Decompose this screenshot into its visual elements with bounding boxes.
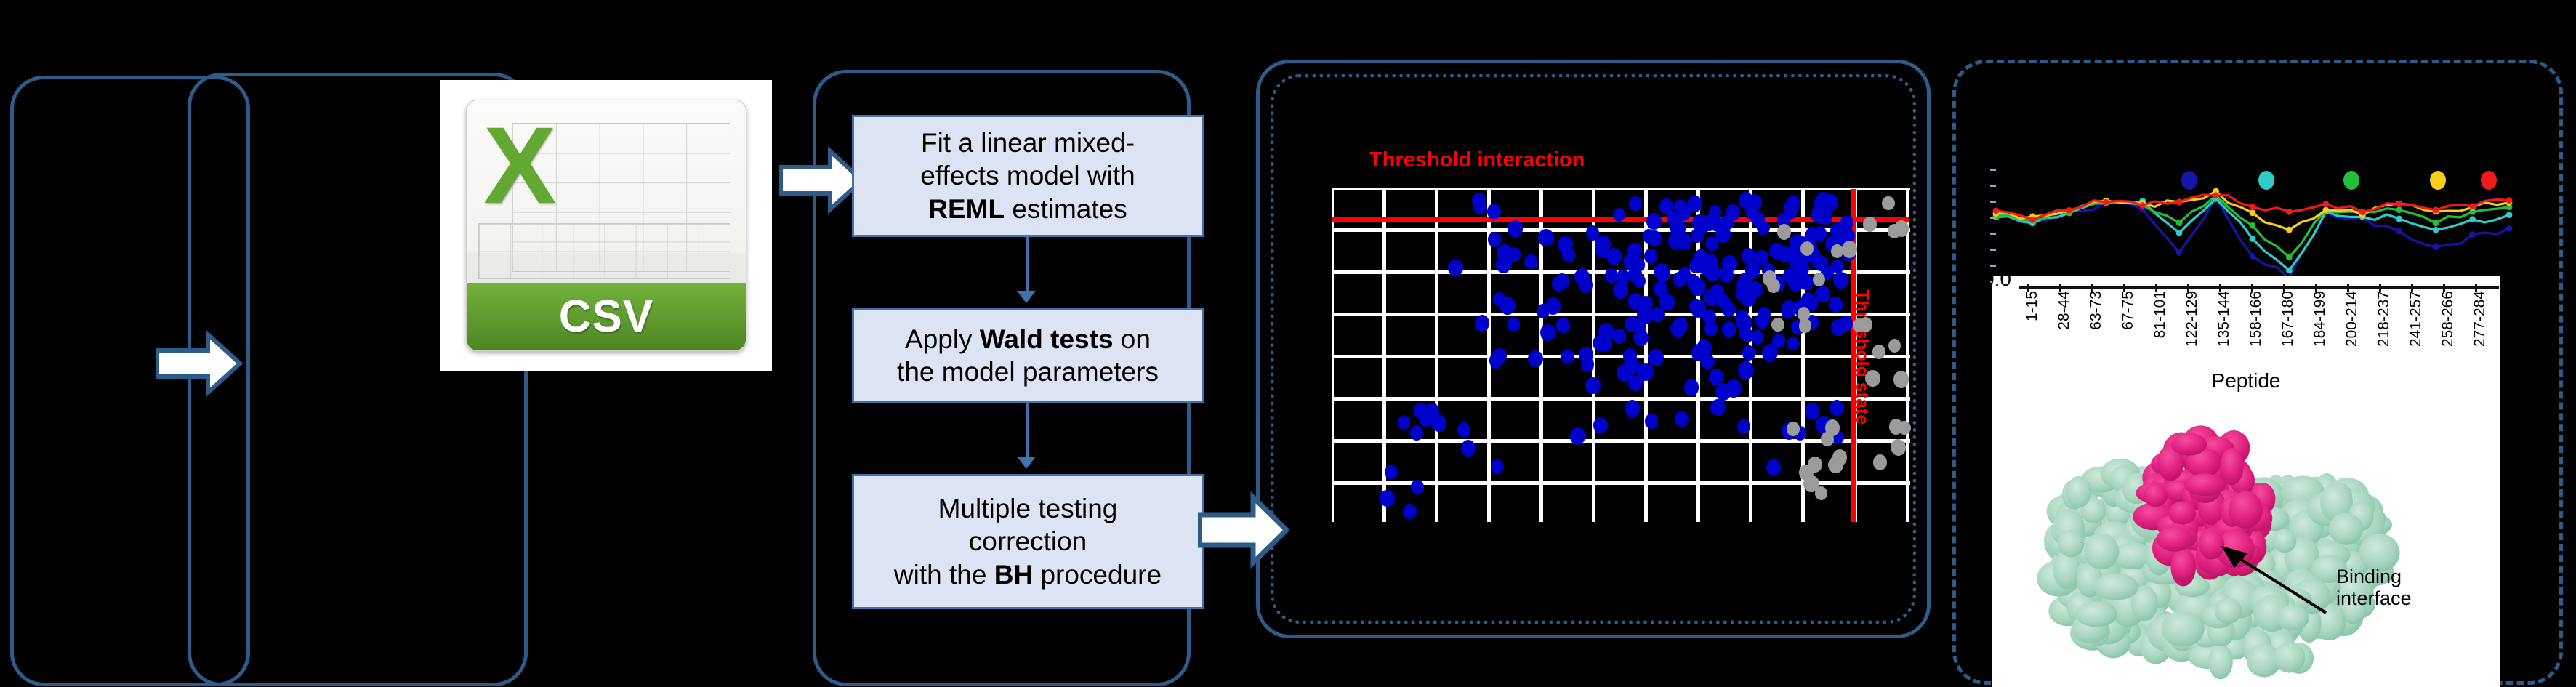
volcano-point-significant bbox=[1487, 204, 1502, 220]
volcano-point-significant bbox=[1675, 411, 1689, 427]
volcano-point-significant bbox=[1380, 490, 1395, 507]
volcano-point-non-significant bbox=[1771, 318, 1784, 332]
volcano-point-significant bbox=[1715, 383, 1731, 401]
peptide-tick-label: 167-180 bbox=[2279, 291, 2297, 347]
ligand-surface-blob bbox=[2171, 550, 2195, 582]
volcano-point-significant bbox=[1722, 321, 1736, 337]
volcano-point-significant bbox=[1537, 304, 1550, 318]
connector-reml-to-wald-head bbox=[1017, 291, 1036, 303]
peptide-series-marker bbox=[2286, 267, 2293, 273]
peptide-tick-label: 1-15 bbox=[2024, 291, 2041, 321]
peptide-series-marker bbox=[2359, 209, 2366, 215]
volcano-point-significant bbox=[1667, 212, 1679, 226]
step-wald-pre: Apply bbox=[905, 324, 980, 354]
volcano-point-significant bbox=[1643, 229, 1655, 243]
volcano-point-non-significant bbox=[1787, 422, 1800, 436]
legend-dot-3 bbox=[2343, 171, 2359, 190]
volcano-point-significant bbox=[1829, 297, 1843, 312]
volcano-point-significant bbox=[1787, 337, 1799, 350]
volcano-point-non-significant bbox=[1865, 370, 1880, 387]
volcano-plot: Threshold interaction Threshold state bbox=[1298, 137, 1906, 573]
protein-surface-blob bbox=[2093, 574, 2138, 600]
volcano-point-significant bbox=[1528, 350, 1543, 367]
peptide-series-marker bbox=[2103, 199, 2109, 206]
volcano-point-significant bbox=[1579, 277, 1593, 292]
volcano-point-significant bbox=[1556, 318, 1569, 333]
peptide-tick-mark bbox=[2219, 284, 2221, 292]
step-reml-line3-rest: estimates bbox=[1005, 194, 1127, 224]
volcano-point-significant bbox=[1710, 399, 1726, 416]
peptide-series-marker bbox=[2029, 217, 2036, 223]
peptide-tick-label: 135-144 bbox=[2215, 291, 2233, 347]
volcano-point-significant bbox=[1492, 348, 1506, 364]
volcano-point-significant bbox=[1500, 297, 1516, 315]
volcano-point-significant bbox=[1561, 349, 1574, 364]
volcano-point-significant bbox=[1722, 302, 1736, 317]
volcano-point-significant bbox=[1816, 192, 1831, 209]
volcano-point-significant bbox=[1624, 357, 1640, 374]
legend-dot-2 bbox=[2258, 171, 2274, 190]
volcano-point-significant bbox=[1709, 369, 1723, 385]
volcano-point-significant bbox=[1687, 275, 1701, 290]
volcano-point-non-significant bbox=[1828, 457, 1843, 474]
csv-tile: X CSV bbox=[466, 100, 746, 351]
protein-surface-blob bbox=[2058, 530, 2085, 557]
ligand-surface-blob bbox=[2157, 526, 2193, 551]
step-bh-line1: Multiple testing bbox=[938, 494, 1118, 523]
volcano-point-significant bbox=[1613, 281, 1628, 299]
peptide-tick-label: 258-266 bbox=[2439, 291, 2457, 347]
peptide-tick-mark bbox=[2475, 284, 2477, 292]
volcano-point-significant bbox=[1692, 214, 1707, 231]
volcano-point-significant bbox=[1491, 459, 1504, 474]
volcano-point-significant bbox=[1762, 344, 1778, 361]
connector-wald-to-bh bbox=[1026, 403, 1029, 461]
connector-wald-to-bh-head bbox=[1017, 457, 1036, 469]
peptide-tick-label: 184-199 bbox=[2311, 291, 2329, 347]
peptide-tick-mark bbox=[2027, 284, 2029, 292]
protein-surface-blob bbox=[2215, 598, 2242, 624]
legend-dot-5 bbox=[2481, 171, 2497, 190]
protein-surface-blob bbox=[2066, 476, 2091, 507]
step-reml-box[interactable]: Fit a linear mixed- effects model with R… bbox=[852, 115, 1204, 237]
volcano-point-significant bbox=[1496, 256, 1512, 273]
peptide-series-marker bbox=[2396, 228, 2402, 235]
peptide-series-marker bbox=[2139, 202, 2146, 209]
step-bh-line2: correction bbox=[969, 526, 1087, 556]
volcano-point-significant bbox=[1555, 273, 1569, 289]
peptide-series-marker bbox=[2396, 201, 2402, 207]
volcano-point-significant bbox=[1628, 375, 1643, 391]
volcano-point-non-significant bbox=[1859, 317, 1872, 332]
peptide-series-marker bbox=[2396, 216, 2402, 222]
volcano-point-significant bbox=[1475, 315, 1489, 332]
volcano-point-non-significant bbox=[1863, 217, 1877, 232]
volcano-point-non-significant bbox=[1888, 339, 1901, 353]
volcano-point-significant bbox=[1751, 330, 1763, 345]
volcano-point-significant bbox=[1613, 208, 1625, 222]
volcano-point-significant bbox=[1570, 427, 1585, 445]
protein-surface-blob bbox=[2329, 513, 2363, 545]
peptide-tick-label: 81-101 bbox=[2152, 291, 2169, 338]
ligand-surface-blob bbox=[2221, 448, 2244, 485]
peptide-series-marker bbox=[2250, 253, 2256, 260]
peptide-tick-mark bbox=[2443, 284, 2445, 292]
volcano-point-significant bbox=[1689, 299, 1704, 315]
volcano-point-significant bbox=[1411, 480, 1423, 494]
volcano-point-significant bbox=[1704, 264, 1720, 281]
volcano-point-significant bbox=[1805, 403, 1819, 419]
volcano-point-non-significant bbox=[1872, 345, 1885, 359]
volcano-point-significant bbox=[1694, 249, 1708, 266]
volcano-point-significant bbox=[1558, 236, 1573, 253]
peptide-series-marker bbox=[2506, 197, 2513, 204]
step-wald-box[interactable]: Apply Wald tests on the model parameters bbox=[852, 308, 1204, 403]
volcano-point-significant bbox=[1398, 415, 1410, 429]
peptide-series-marker bbox=[2323, 207, 2330, 214]
volcano-point-significant bbox=[1766, 459, 1781, 476]
peptide-tick-mark bbox=[2411, 284, 2413, 292]
step-reml-line2: effects model with bbox=[920, 161, 1135, 190]
peptide-series-marker bbox=[2250, 222, 2256, 229]
peptide-tick-mark bbox=[2283, 284, 2285, 292]
volcano-point-non-significant bbox=[1873, 454, 1887, 470]
volcano-point-significant bbox=[1625, 400, 1640, 417]
csv-file-icon: X CSV bbox=[440, 80, 772, 371]
peptide-series-marker bbox=[2286, 227, 2293, 233]
volcano-point-significant bbox=[1840, 215, 1853, 229]
volcano-point-non-significant bbox=[1893, 371, 1909, 388]
volcano-point-significant bbox=[1540, 324, 1555, 342]
peptide-tick-label: 67-75 bbox=[2120, 291, 2137, 330]
volcano-point-non-significant bbox=[1813, 273, 1825, 286]
peptide-tick-label: 241-257 bbox=[2407, 291, 2425, 347]
peptide-series-marker bbox=[2433, 227, 2439, 233]
step-reml-line1: Fit a linear mixed- bbox=[921, 128, 1135, 158]
step-bh-box[interactable]: Multiple testing correction with the BH … bbox=[852, 474, 1204, 609]
peptide-series-marker bbox=[2213, 192, 2219, 198]
volcano-point-significant bbox=[1818, 208, 1832, 224]
arrow-input-to-csv bbox=[156, 329, 243, 398]
legend-dot-1 bbox=[2181, 171, 2197, 190]
step-bh-post: procedure bbox=[1033, 560, 1162, 590]
structure-inset-card: 0.0 1-1528-4463-7367-7581-101122-129135-… bbox=[1992, 276, 2500, 687]
volcano-point-significant bbox=[1646, 213, 1662, 230]
peptide-tick-label: 200-214 bbox=[2343, 291, 2361, 347]
volcano-point-significant bbox=[1585, 377, 1601, 395]
volcano-point-significant bbox=[1701, 354, 1715, 370]
csv-format-label: CSV bbox=[467, 283, 745, 350]
volcano-point-significant bbox=[1659, 294, 1675, 310]
volcano-point-significant bbox=[1461, 440, 1476, 457]
protein-structure-image bbox=[2013, 403, 2420, 680]
ligand-surface-blob bbox=[2169, 501, 2197, 524]
volcano-point-significant bbox=[1508, 317, 1520, 331]
volcano-point-significant bbox=[1655, 265, 1670, 282]
binding-interface-line2: interface bbox=[2336, 587, 2412, 609]
peptide-series-marker bbox=[2286, 209, 2293, 215]
excel-x-icon: X bbox=[472, 105, 567, 225]
volcano-point-significant bbox=[1629, 196, 1642, 211]
volcano-point-significant bbox=[1457, 422, 1470, 437]
peptide-series-marker bbox=[2323, 201, 2330, 207]
peptide-series-marker bbox=[2250, 236, 2256, 242]
volcano-point-significant bbox=[1736, 310, 1749, 324]
peptide-tick-mark bbox=[2123, 284, 2125, 292]
volcano-point-significant bbox=[1684, 379, 1699, 395]
peptide-series-marker bbox=[2176, 198, 2183, 205]
peptide-tick-mark bbox=[2091, 284, 2093, 292]
arrow-model-to-volcano bbox=[1198, 490, 1289, 570]
protein-surface-blob bbox=[2277, 605, 2309, 630]
volcano-point-significant bbox=[1410, 425, 1423, 440]
volcano-point-significant bbox=[1473, 199, 1487, 214]
volcano-point-non-significant bbox=[1898, 421, 1910, 435]
volcano-point-significant bbox=[1742, 345, 1755, 361]
volcano-point-significant bbox=[1403, 504, 1417, 519]
volcano-point-significant bbox=[1742, 248, 1756, 264]
peptide-series-marker bbox=[2433, 207, 2439, 214]
volcano-point-significant bbox=[1644, 249, 1657, 264]
step-reml-text: Fit a linear mixed- effects model with R… bbox=[920, 126, 1135, 225]
volcano-point-non-significant bbox=[1825, 419, 1840, 436]
peptide-tick-mark bbox=[2379, 284, 2381, 292]
peptide-series-marker bbox=[1993, 208, 2000, 214]
step-wald-term: Wald tests bbox=[980, 324, 1114, 354]
volcano-point-significant bbox=[1738, 361, 1754, 379]
volcano-point-significant bbox=[1737, 419, 1750, 435]
peptide-series-marker bbox=[2506, 212, 2513, 218]
volcano-point-significant bbox=[1784, 205, 1797, 220]
volcano-point-significant bbox=[1833, 272, 1848, 289]
step-wald-post: on bbox=[1114, 324, 1151, 354]
peptide-tick-label: 218-237 bbox=[2375, 291, 2393, 347]
volcano-point-non-significant bbox=[1777, 224, 1791, 240]
spreadsheet-grid-lower-icon bbox=[478, 223, 730, 280]
step-bh-term: BH bbox=[994, 560, 1033, 590]
connector-reml-to-wald bbox=[1026, 237, 1029, 295]
volcano-point-significant bbox=[1633, 257, 1645, 271]
volcano-point-significant bbox=[1758, 307, 1771, 321]
peptide-series-marker bbox=[2396, 206, 2402, 213]
volcano-point-significant bbox=[1538, 229, 1553, 246]
volcano-point-significant bbox=[1709, 205, 1721, 219]
volcano-point-significant bbox=[1720, 267, 1734, 283]
volcano-point-significant bbox=[1385, 465, 1397, 479]
peptide-tick-label: 63-73 bbox=[2088, 291, 2105, 330]
peptide-series-marker bbox=[2250, 204, 2256, 210]
legend-dot-4 bbox=[2430, 171, 2446, 190]
ligand-surface-blob bbox=[2229, 491, 2263, 529]
peptide-line-chart bbox=[1963, 132, 2515, 286]
peptide-tick-mark bbox=[2347, 284, 2349, 292]
volcano-point-significant bbox=[1648, 349, 1664, 366]
volcano-point-non-significant bbox=[1842, 241, 1857, 257]
protein-surface-blob bbox=[2075, 601, 2117, 627]
volcano-point-significant bbox=[1508, 220, 1523, 237]
volcano-point-significant bbox=[1606, 248, 1622, 265]
volcano-point-significant bbox=[1747, 194, 1762, 211]
ligand-surface-blob bbox=[2184, 473, 2226, 496]
peptide-tick-label: 28-44 bbox=[2056, 291, 2073, 330]
peptide-series-marker bbox=[2176, 220, 2183, 226]
volcano-point-significant bbox=[1581, 357, 1594, 372]
binding-interface-annotation: Binding interface bbox=[2336, 566, 2412, 609]
volcano-point-significant bbox=[1839, 316, 1853, 332]
volcano-point-significant bbox=[1670, 321, 1685, 337]
volcano-point-significant bbox=[1524, 254, 1538, 270]
y-axis-value-label: 0.0 bbox=[1992, 276, 2011, 291]
volcano-point-significant bbox=[1448, 260, 1462, 276]
peptide-series-marker bbox=[2066, 207, 2073, 214]
peptide-tick-mark bbox=[2187, 284, 2189, 292]
volcano-point-significant bbox=[1628, 293, 1643, 310]
step-wald-line2: the model parameters bbox=[897, 357, 1159, 387]
volcano-point-non-significant bbox=[1882, 196, 1895, 211]
volcano-point-significant bbox=[1830, 400, 1844, 416]
step-reml-term: REML bbox=[928, 194, 1005, 224]
step-bh-pre: with the bbox=[894, 560, 994, 590]
peptide-series-marker bbox=[2506, 225, 2513, 232]
volcano-point-significant bbox=[1593, 417, 1607, 433]
step-wald-text: Apply Wald tests on the model parameters bbox=[897, 323, 1159, 388]
peptide-series-marker bbox=[2176, 230, 2183, 236]
peptide-axis-title: Peptide bbox=[1992, 369, 2500, 393]
binding-interface-line1: Binding bbox=[2336, 566, 2412, 587]
volcano-point-significant bbox=[1806, 227, 1819, 242]
volcano-point-significant bbox=[1831, 260, 1843, 274]
volcano-point-significant bbox=[1488, 232, 1501, 246]
peptide-tick-label: 122-129 bbox=[2183, 291, 2201, 347]
protein-surface-blob bbox=[2273, 529, 2296, 553]
peptide-tick-mark bbox=[2251, 284, 2253, 292]
peptide-tick-mark bbox=[2315, 284, 2317, 292]
protein-surface-blob bbox=[2274, 643, 2305, 673]
peptide-series-marker bbox=[2286, 254, 2293, 260]
volcano-point-non-significant bbox=[1799, 318, 1812, 333]
peptide-series-marker bbox=[2250, 209, 2256, 216]
protein-surface-blob bbox=[2208, 644, 2233, 680]
peptide-tick-mark bbox=[2155, 284, 2157, 292]
protein-surface-blob bbox=[2084, 534, 2119, 570]
peptide-series-marker bbox=[2433, 220, 2439, 227]
ligand-surface-blob bbox=[2144, 484, 2168, 507]
volcano-point-significant bbox=[1769, 243, 1784, 260]
peptide-tick-label: 158-166 bbox=[2247, 291, 2265, 347]
volcano-point-cloud bbox=[1298, 137, 1906, 573]
volcano-point-non-significant bbox=[1891, 440, 1906, 456]
peptide-series-marker bbox=[2469, 231, 2476, 238]
volcano-point-significant bbox=[1595, 337, 1608, 352]
volcano-point-significant bbox=[1782, 305, 1795, 319]
peptide-tick-label: 277-284 bbox=[2471, 291, 2489, 347]
volcano-point-significant bbox=[1612, 329, 1626, 344]
ligand-surface-blob bbox=[2171, 433, 2207, 456]
volcano-point-significant bbox=[1739, 273, 1752, 288]
volcano-point-significant bbox=[1726, 204, 1740, 221]
peptide-series-marker bbox=[2176, 249, 2183, 256]
step-bh-text: Multiple testing correction with the BH … bbox=[894, 492, 1162, 590]
peptide-series-marker bbox=[2433, 244, 2439, 250]
ligand-surface-blob bbox=[2199, 530, 2224, 560]
peptide-tick-mark bbox=[2059, 284, 2061, 292]
volcano-point-significant bbox=[1668, 233, 1683, 249]
peptide-series-marker bbox=[2469, 216, 2476, 222]
volcano-point-significant bbox=[1425, 403, 1439, 419]
protein-surface-blob bbox=[2161, 611, 2204, 647]
volcano-point-significant bbox=[1739, 326, 1751, 340]
peptide-series-marker bbox=[2469, 204, 2476, 210]
volcano-point-significant bbox=[1645, 414, 1659, 429]
